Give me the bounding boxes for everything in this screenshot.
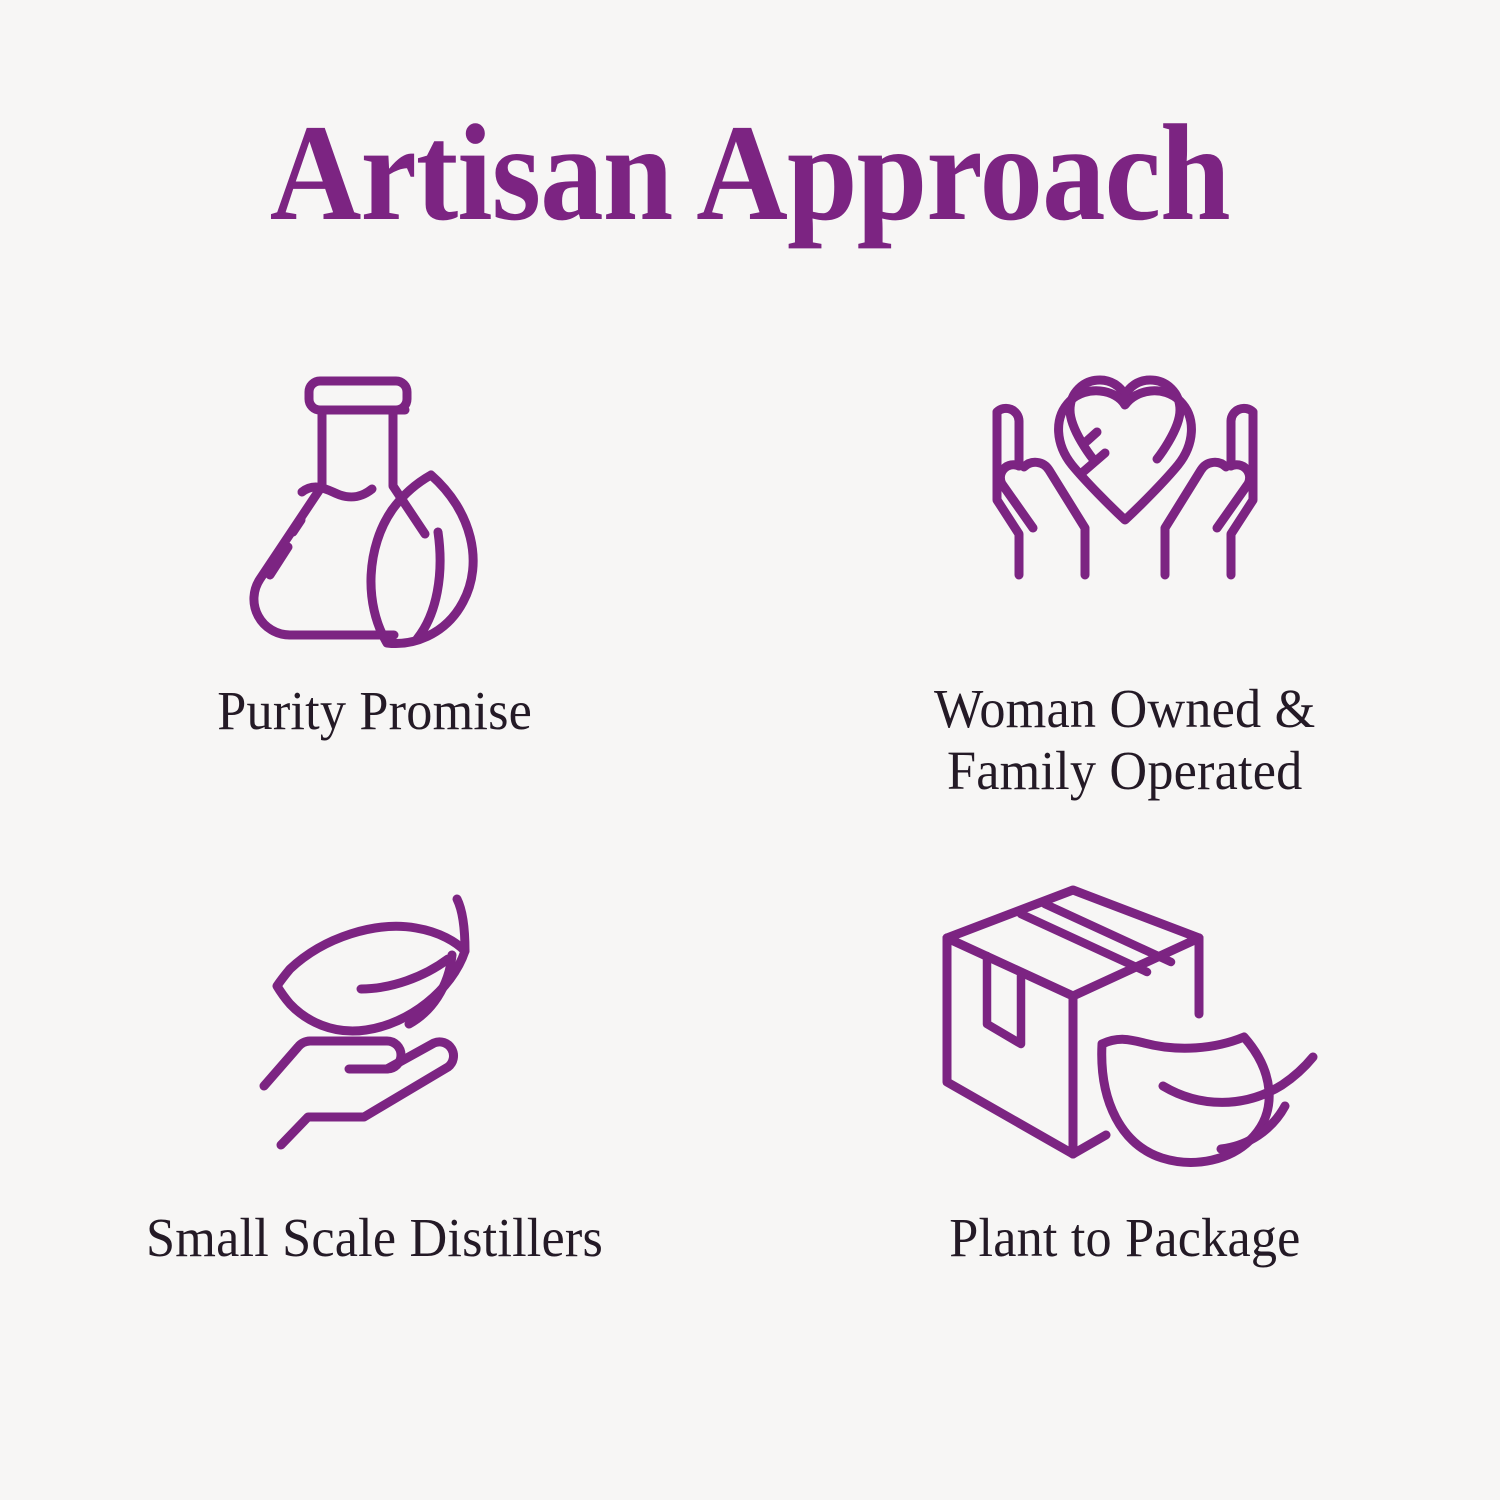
artisan-approach-panel: Artisan Approach: [0, 0, 1500, 1500]
page-title: Artisan Approach: [270, 104, 1230, 242]
feature-label-plant-to-package: Plant to Package: [949, 1207, 1300, 1269]
feature-label-purity-promise: Purity Promise: [218, 680, 533, 742]
feature-item-woman-owned: Woman Owned & Family Operated: [750, 352, 1500, 857]
feature-grid: Purity Promise: [0, 352, 1500, 1362]
hand-holding-leaf-icon: [0, 857, 750, 1157]
box-leaf-icon: [750, 857, 1500, 1157]
feature-item-purity-promise: Purity Promise: [0, 352, 750, 857]
feature-item-plant-to-package: Plant to Package: [750, 857, 1500, 1362]
flask-leaf-icon: [0, 352, 750, 652]
page-title-container: Artisan Approach: [0, 104, 1500, 242]
feature-label-woman-owned: Woman Owned & Family Operated: [934, 678, 1315, 801]
hands-holding-heart-icon: [750, 352, 1500, 652]
feature-item-small-scale-distillers: Small Scale Distillers: [0, 857, 750, 1362]
feature-label-small-scale-distillers: Small Scale Distillers: [147, 1207, 604, 1269]
